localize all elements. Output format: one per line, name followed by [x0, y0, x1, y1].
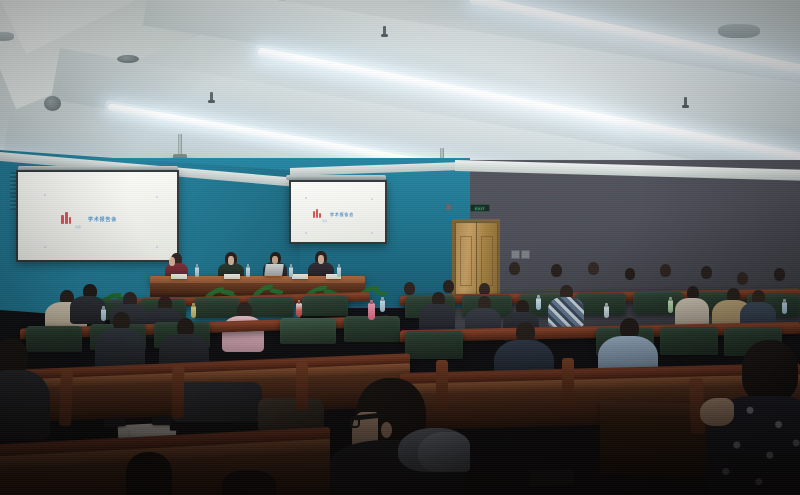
attendee-head — [588, 262, 599, 275]
backpack — [172, 382, 262, 422]
door-seam — [476, 222, 477, 295]
water-bottle — [536, 298, 541, 310]
attendee-head — [404, 282, 415, 295]
slide-subtitle-left: 讲座 — [75, 225, 81, 229]
seatback — [660, 327, 718, 355]
ceiling-vent — [0, 32, 14, 41]
light-switch-plate[interactable] — [511, 250, 520, 259]
door-panel — [481, 236, 493, 286]
attendee-head — [509, 262, 520, 275]
armrest — [172, 366, 185, 418]
seatback — [26, 326, 82, 352]
water-bottle — [289, 267, 293, 277]
water-bottle — [296, 303, 302, 317]
door-panel — [460, 236, 472, 286]
water-bottle — [380, 300, 385, 312]
smartphone[interactable] — [152, 416, 172, 425]
name-card — [224, 274, 240, 279]
water-bottle — [782, 302, 787, 314]
slide-title-left: 学术报告会 — [88, 216, 117, 223]
wall-outlet — [446, 204, 451, 210]
lecture-hall-photo: 学术报告会 讲座 学术报告会 讲座 EXIT — [0, 0, 800, 495]
water-bottle — [191, 306, 196, 318]
name-card — [292, 274, 308, 279]
sprinkler-head — [210, 92, 213, 101]
ceiling — [0, 0, 800, 178]
water-bottle — [337, 267, 341, 277]
name-card — [171, 274, 187, 279]
seatback — [280, 318, 336, 344]
panelist-laptop — [264, 264, 284, 276]
armrest — [296, 362, 308, 410]
projection-screen-right: 学术报告会 讲座 — [289, 180, 387, 244]
ceiling-vent — [718, 24, 760, 38]
attendee-head — [701, 266, 712, 279]
attendee-head — [660, 264, 671, 277]
ceiling-speaker — [117, 55, 139, 63]
armrest — [436, 360, 448, 412]
sprinkler-head — [684, 97, 687, 106]
ceiling-speaker — [44, 96, 61, 111]
water-bottle — [668, 300, 673, 313]
armrest — [59, 368, 73, 426]
attendee-head — [443, 280, 454, 293]
seatback — [405, 331, 463, 359]
attendee-head — [551, 264, 562, 277]
slide-logo-icon — [61, 212, 71, 224]
attendee-head — [737, 272, 748, 285]
water-bottle — [246, 267, 250, 277]
slide-subtitle-right: 讲座 — [322, 219, 327, 223]
exit-sign: EXIT — [470, 204, 490, 212]
seatback — [194, 298, 240, 318]
armrest — [562, 358, 574, 408]
water-bottle — [604, 306, 609, 318]
water-bottle — [195, 267, 199, 277]
exit-sign-label: EXIT — [475, 206, 485, 211]
seatback — [302, 296, 348, 316]
projection-screen-left: 学术报告会 讲座 — [16, 170, 179, 262]
attendee-head — [774, 268, 785, 281]
water-bottle — [101, 309, 106, 321]
thermos-pink — [368, 303, 375, 320]
sprinkler-head — [383, 26, 386, 35]
slide-title-right: 学术报告会 — [330, 212, 354, 218]
seatback — [248, 297, 294, 317]
smartphone[interactable] — [530, 469, 575, 487]
light-switch-plate[interactable] — [521, 250, 530, 259]
attendee-head — [625, 268, 635, 280]
slide-logo-icon — [313, 209, 321, 218]
